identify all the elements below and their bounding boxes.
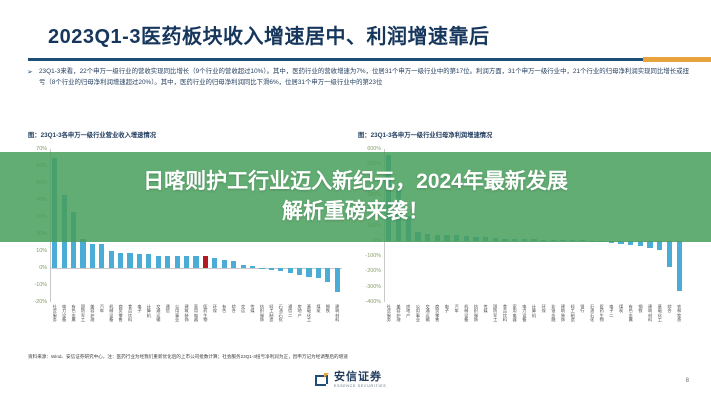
x-axis-tick-label: 社会服务 [52, 305, 58, 323]
x-axis-tick-label: 建筑装饰 [560, 305, 566, 323]
y-axis-tick-label: -20% [28, 299, 47, 305]
x-axis-tick-label: 传媒 [250, 305, 256, 314]
x-axis-tick-label: 电力设备 [521, 305, 527, 323]
x-axis-tick-label: 公用事业 [415, 305, 421, 323]
x-axis-tick-label: 商贸零售 [118, 305, 124, 323]
x-axis-tick-label: 计算机 [531, 305, 537, 318]
x-axis-tick-label: 公用事业 [174, 305, 180, 323]
x-axis-tick-label: 美容护理 [396, 305, 402, 323]
x-axis-tick-label: 国防军工 [492, 305, 498, 323]
chart-bar [118, 253, 123, 268]
x-axis-tick-label: 家用电器 [512, 305, 518, 323]
chart-bar [222, 260, 227, 269]
x-axis-tick-label: 基础化工 [306, 305, 312, 323]
x-axis-tick-label: 机械设备 [108, 305, 114, 323]
y-axis-tick-label: -100% [358, 253, 381, 259]
y-axis-tick-label: 10% [28, 248, 47, 254]
slide-root: 2023Q1-3医药板块收入增速居中、利润增速靠后 ➢ 23Q1-3来看，22个… [0, 0, 711, 400]
x-axis-tick-label: 综合 [666, 305, 672, 314]
chart-bar [677, 241, 682, 291]
chart-bar [193, 256, 198, 268]
x-axis-tick-label: 环保 [212, 305, 218, 314]
page-number: 8 [686, 378, 689, 384]
x-axis-tick-label: 电子 [136, 305, 142, 314]
right-chart-title: 图：23Q1-3各申万一级行业归母净利润增速情况 [358, 130, 492, 139]
x-axis-tick-label: 钢铁 [637, 305, 643, 314]
chart-bar [203, 256, 208, 268]
left-chart-title: 图：23Q1-3各申万一级行业营业收入增速情况 [28, 130, 156, 139]
bullet-paragraph: 23Q1-3来看，22个申万一级行业的营收实现同比增长（9个行业的营收超过10%… [39, 67, 689, 88]
x-axis-tick-label: 综合 [231, 305, 237, 314]
bullet-arrow-icon: ➢ [27, 67, 39, 78]
chart-bar [109, 251, 114, 268]
chart-bar [250, 266, 255, 268]
chart-bar [325, 268, 330, 282]
x-axis-tick-label: 煤炭 [315, 305, 321, 314]
x-axis-tick-label: 纺织服饰 [473, 305, 479, 323]
source-note: 资料来源：Wind、安信证券研究中心，注：医药行业为经我们重新优化后的上市公司批… [28, 353, 688, 360]
chart-bar [231, 261, 236, 268]
x-axis-tick-label: 纺织服饰 [259, 305, 265, 323]
x-axis-tick-label: 房地产 [297, 305, 303, 318]
x-axis-tick-label: 食品饮料 [502, 305, 508, 323]
chart-bar [156, 256, 161, 268]
x-axis-tick-label: 农林牧渔 [676, 305, 682, 323]
x-axis-tick-label: 银行 [579, 305, 585, 314]
chart-bar [127, 253, 132, 268]
chart-bar [175, 256, 180, 268]
header-rule-orange [643, 57, 711, 62]
chart-bar [137, 254, 142, 268]
y-axis-tick-label: 0% [28, 265, 47, 271]
chart-bar [278, 268, 283, 271]
header-rule-navy [28, 58, 643, 61]
bullet-block: ➢ 23Q1-3来看，22个申万一级行业的营收实现同比增长（9个行业的营收超过1… [27, 67, 695, 88]
x-axis-tick-label: 计算机 [146, 305, 152, 318]
x-axis-tick-label: 电力设备 [61, 305, 67, 323]
x-axis-tick-label: 建筑材料 [334, 305, 340, 323]
chart-bar [165, 256, 170, 268]
x-axis-tick-label: 钢铁 [325, 305, 331, 314]
chart-bar [99, 244, 104, 268]
logo-chinese-name: 安信证券 [334, 372, 386, 383]
x-axis-tick-label: 电子 [444, 305, 450, 314]
y-axis-tick-label: -300% [358, 284, 381, 290]
x-axis-tick-label: 社会服务 [386, 305, 392, 323]
chart-bar [184, 256, 189, 268]
overlay-line-2: 解析重磅来袭！ [31, 197, 681, 227]
chart-bar [212, 258, 217, 268]
x-axis-tick-label: 交通运输 [425, 305, 431, 323]
x-axis-tick-label: 汽车 [99, 305, 105, 314]
essence-logo-icon [315, 373, 330, 388]
x-axis-tick-label: 家用电器 [193, 305, 199, 323]
x-axis-tick-label: 基础化工 [657, 305, 663, 323]
bullet-row: ➢ 23Q1-3来看，22个申万一级行业的营收实现同比增长（9个行业的营收超过1… [27, 67, 695, 88]
x-axis-tick-label: 房地产 [405, 305, 411, 318]
chart-bar [657, 241, 662, 250]
y-axis-tick-label: -10% [28, 282, 47, 288]
x-axis-tick-label: 电子二 [608, 305, 614, 318]
x-axis-tick-label: 环保 [541, 305, 547, 314]
chart-bar [288, 268, 293, 273]
x-axis-tick-label: 非银金融 [550, 305, 556, 323]
x-axis-tick-label: 汽车 [454, 305, 460, 314]
x-axis-tick-label: 建筑装饰 [184, 305, 190, 323]
page-title: 2023Q1-3医药板块收入增速居中、利润增速靠后 [48, 20, 489, 49]
chart-bar [316, 268, 321, 278]
chart-bar [259, 268, 264, 269]
chart-bar [306, 268, 311, 277]
x-axis-tick-label: 机械设备 [463, 305, 469, 323]
x-axis-tick-label: 食品饮料 [127, 305, 133, 323]
x-axis-tick-label: 交通运输 [155, 305, 161, 323]
x-axis-tick-label: 医药生物 [202, 305, 208, 323]
overlay-heading: 日喀则护工行业迈入新纪元，2024年最新发展 解析重磅来袭！ [31, 167, 681, 227]
x-axis-tick-label: 石油石化 [278, 305, 284, 323]
x-axis-tick-label: 轻工制造 [570, 305, 576, 323]
x-axis-tick-label: 石油石化 [589, 305, 595, 323]
chart-bar [297, 268, 302, 275]
x-axis-tick-label: 交运 [240, 305, 246, 314]
x-axis-tick-label: 有色金属 [71, 305, 77, 323]
chart-bar [90, 244, 95, 268]
chart-bar [335, 268, 340, 292]
x-axis-tick-label: 通信二 [287, 305, 293, 318]
x-axis-tick-label: 通信 [165, 305, 171, 314]
overlay-banner: 日喀则护工行业迈入新纪元，2024年最新发展 解析重磅来袭！ [0, 152, 711, 242]
overlay-line-1: 日喀则护工行业迈入新纪元，2024年最新发展 [31, 167, 681, 197]
x-axis-tick-label: 有色 [221, 305, 227, 314]
logo-text: 安信证券 ESSENCE SECURITIES [334, 372, 386, 388]
chart-bar [80, 239, 85, 268]
x-axis-tick-label: 轻工制造 [268, 305, 274, 323]
chart-bar [241, 265, 246, 268]
chart-bar [146, 254, 151, 268]
y-axis-tick-label: -400% [358, 299, 381, 305]
company-logo: 安信证券 ESSENCE SECURITIES [315, 372, 386, 388]
x-axis-tick-label: 传媒 [483, 305, 489, 314]
x-axis-tick-label: 国防军工 [80, 305, 86, 323]
x-axis-tick-label: 有色金属 [628, 305, 634, 323]
x-axis-tick-label: 美容护理 [89, 305, 95, 323]
y-axis-tick-label: -200% [358, 268, 381, 274]
chart-bar [667, 241, 672, 267]
chart-bar [269, 268, 274, 270]
x-axis-tick-label: 煤炭 [618, 305, 624, 314]
logo-english-name: ESSENCE SECURITIES [334, 384, 386, 388]
x-axis-tick-label: 建筑材料 [647, 305, 653, 323]
x-axis-tick-label: 商贸零售 [434, 305, 440, 323]
x-axis-tick-label: 医药生物 [599, 305, 605, 323]
